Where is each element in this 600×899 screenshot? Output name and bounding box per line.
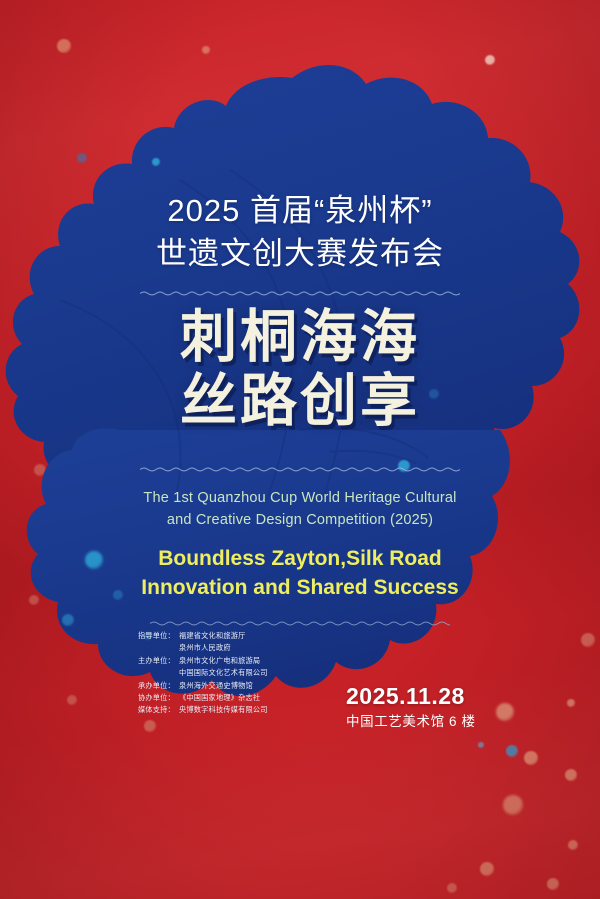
- event-venue: 中国工艺美术馆 6 楼: [346, 714, 476, 730]
- credit-value: 泉州海外交通史博物馆: [179, 682, 338, 689]
- credit-row: 指导单位：福建省文化和旅游厅: [138, 632, 338, 639]
- english-slogan-line-1: Boundless Zayton,Silk Road: [127, 545, 473, 574]
- organizer-credits: 指导单位：福建省文化和旅游厅指导单位：泉州市人民政府主办单位：泉州市文化广电和旅…: [138, 632, 338, 719]
- credit-row: 承办单位：泉州海外交通史博物馆: [138, 682, 338, 689]
- wave-divider-bottom: [150, 620, 450, 627]
- wave-divider-top: [140, 290, 460, 297]
- english-subtitle-line-1: The 1st Quanzhou Cup World Heritage Cult…: [130, 487, 470, 509]
- credit-row: 协办单位：《中国国家地理》杂志社: [138, 694, 338, 701]
- english-subtitle: The 1st Quanzhou Cup World Heritage Cult…: [130, 487, 470, 531]
- wave-divider-middle: [140, 466, 460, 473]
- event-date: 2025.11.28: [346, 684, 476, 709]
- credit-row: 主办单位：中国国际文化艺术有限公司: [138, 669, 338, 676]
- credit-label: 主办单位：: [138, 657, 179, 664]
- credit-label: 协办单位：: [138, 694, 179, 701]
- credit-value: 泉州市文化广电和旅游局: [179, 657, 338, 664]
- credit-value: 央博数字科技传媒有限公司: [179, 706, 338, 713]
- header-line-2: 世遗文创大赛发布会: [130, 233, 470, 276]
- event-header: 2025 首届“泉州杯” 世遗文创大赛发布会: [130, 190, 470, 276]
- credit-row: 主办单位：泉州市文化广电和旅游局: [138, 657, 338, 664]
- credit-value: 中国国际文化艺术有限公司: [179, 669, 338, 676]
- credit-value: 福建省文化和旅游厅: [179, 632, 338, 639]
- english-slogan-line-2: Innovation and Shared Success: [127, 574, 473, 603]
- event-details: 2025.11.28 中国工艺美术馆 6 楼: [346, 684, 476, 730]
- credit-label: 媒体支持：: [138, 706, 179, 713]
- credit-value: 《中国国家地理》杂志社: [179, 694, 338, 701]
- credit-label: 指导单位：: [138, 632, 179, 639]
- credit-row: 指导单位：泉州市人民政府: [138, 644, 338, 651]
- credit-row: 媒体支持：央博数字科技传媒有限公司: [138, 706, 338, 713]
- english-slogan: Boundless Zayton,Silk Road Innovation an…: [127, 545, 473, 603]
- title-line-1: 刺桐海海: [130, 306, 470, 370]
- credit-label: 承办单位：: [138, 682, 179, 689]
- poster-canvas: 2025 首届“泉州杯” 世遗文创大赛发布会 刺桐海海 丝路创享 The 1st…: [0, 0, 600, 899]
- credit-value: 泉州市人民政府: [179, 644, 338, 651]
- english-subtitle-line-2: and Creative Design Competition (2025): [130, 509, 470, 531]
- main-title: 刺桐海海 丝路创享: [130, 306, 470, 434]
- title-line-2: 丝路创享: [130, 370, 470, 434]
- header-line-1: 2025 首届“泉州杯”: [130, 190, 470, 233]
